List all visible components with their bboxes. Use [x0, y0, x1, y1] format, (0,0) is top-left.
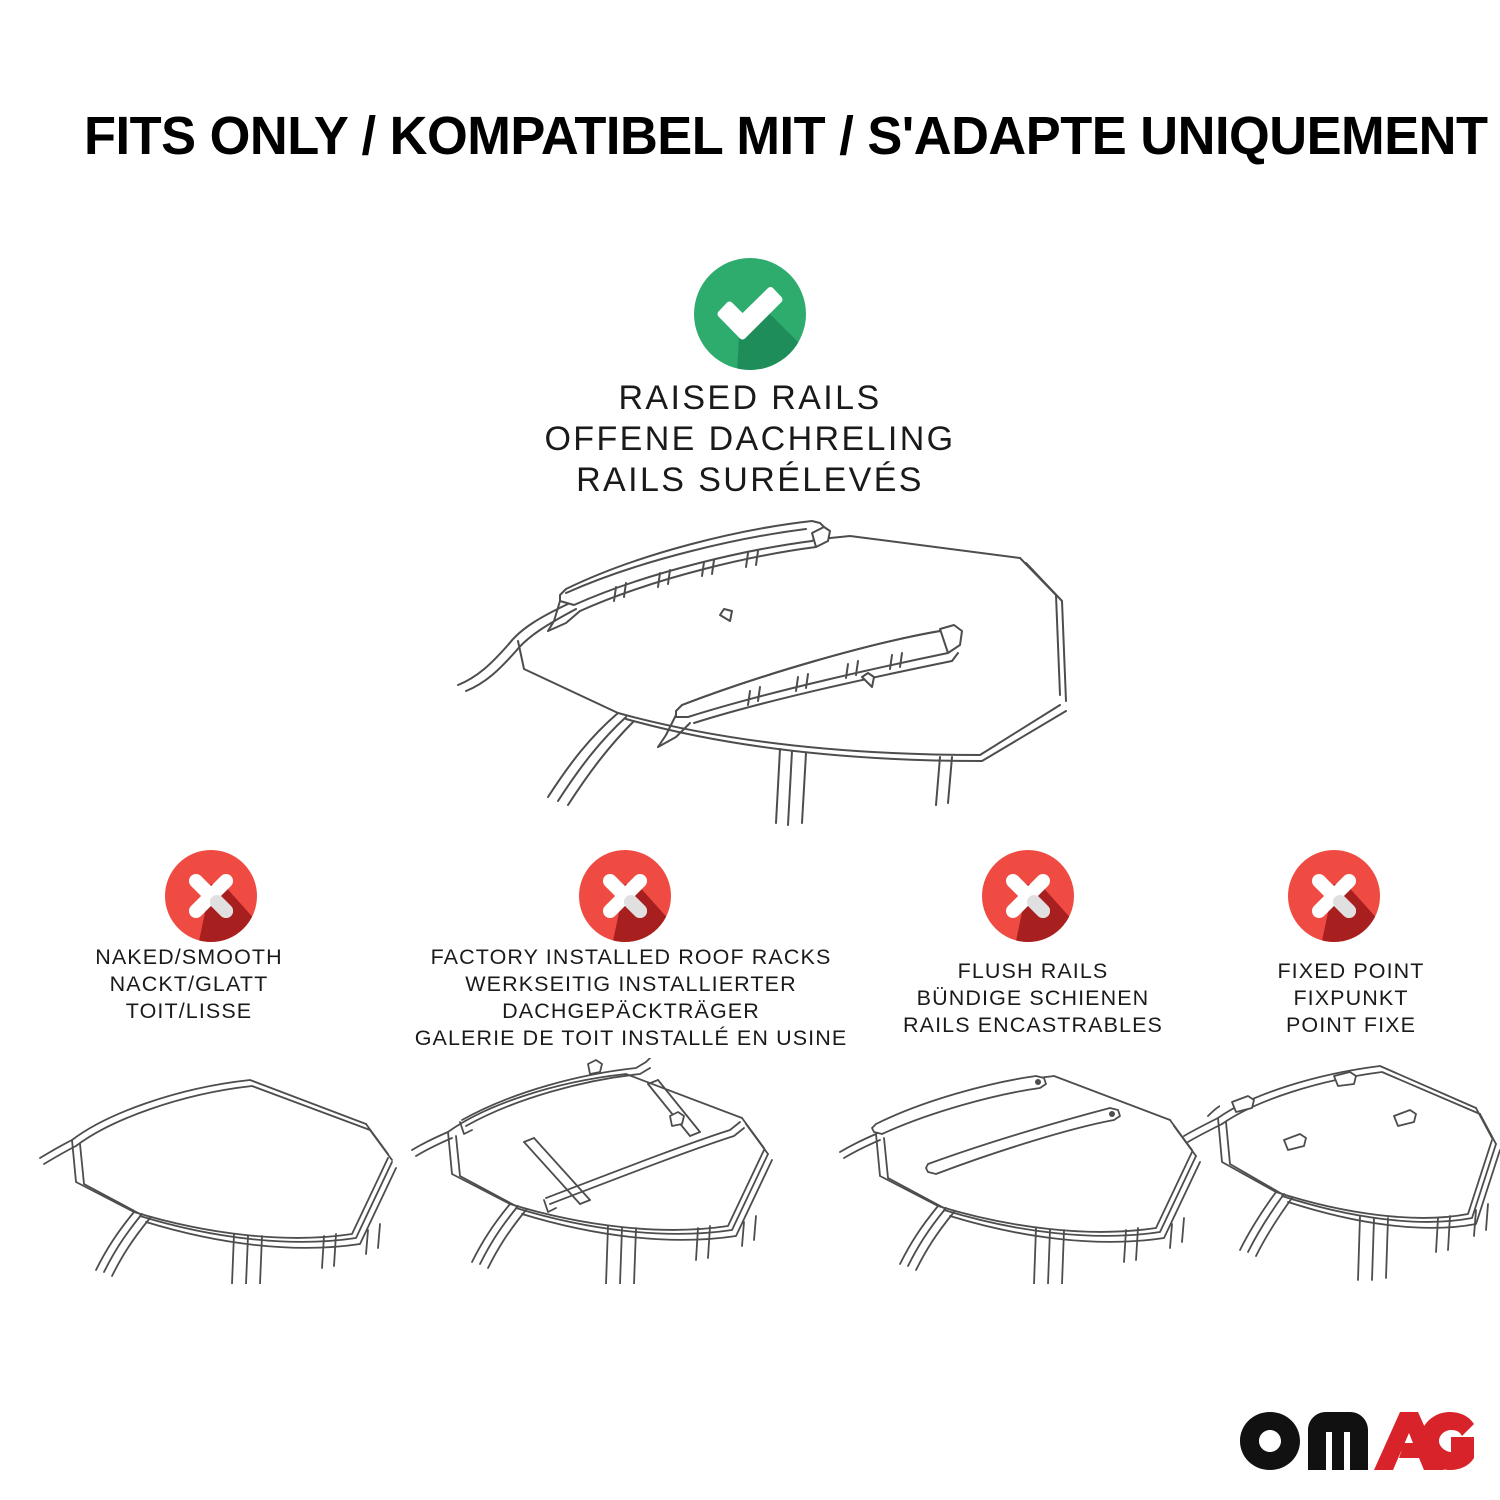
- label-naked-line-1: NAKED/SMOOTH: [24, 944, 354, 971]
- label-block-factory-racks: FACTORY INSTALLED ROOF RACKS WERKSEITIG …: [396, 944, 866, 1052]
- label-fixed-line-2: FIXPUNKT: [1206, 985, 1496, 1012]
- label-block-naked-smooth: NAKED/SMOOTH NACKT/GLATT TOIT/LISSE: [24, 944, 354, 1025]
- x-circle-icon-factory-racks: [579, 850, 683, 946]
- hero-label-line-3: RAILS SURÉLEVÉS: [430, 460, 1070, 501]
- label-block-flush-rails: FLUSH RAILS BÜNDIGE SCHIENEN RAILS ENCAS…: [868, 958, 1198, 1039]
- label-flush-line-3: RAILS ENCASTRABLES: [868, 1012, 1198, 1039]
- label-factory-line-2: WERKSEITIG INSTALLIERTER: [396, 971, 866, 998]
- car-roof-fixed-point-illustration: [1176, 1058, 1500, 1284]
- car-roof-naked-smooth-illustration: [36, 1058, 408, 1284]
- x-circle-icon-flush-rails: [982, 850, 1086, 946]
- hero-label-line-1: RAISED RAILS: [430, 378, 1070, 419]
- label-block-fixed-point: FIXED POINT FIXPUNKT POINT FIXE: [1206, 958, 1496, 1039]
- compatibility-infographic: FITS ONLY / KOMPATIBEL MIT / S'ADAPTE UN…: [0, 0, 1500, 1500]
- hero-label-block: RAISED RAILS OFFENE DACHRELING RAILS SUR…: [430, 378, 1070, 501]
- label-flush-line-2: BÜNDIGE SCHIENEN: [868, 985, 1198, 1012]
- label-naked-line-2: NACKT/GLATT: [24, 971, 354, 998]
- label-factory-line-3: DACHGEPÄCKTRÄGER: [396, 998, 866, 1025]
- page-title: FITS ONLY / KOMPATIBEL MIT / S'ADAPTE UN…: [84, 104, 1384, 168]
- hero-label-line-2: OFFENE DACHRELING: [430, 419, 1070, 460]
- label-fixed-line-1: FIXED POINT: [1206, 958, 1496, 985]
- label-factory-line-4: GALERIE DE TOIT INSTALLÉ EN USINE: [396, 1025, 866, 1052]
- label-flush-line-1: FLUSH RAILS: [868, 958, 1198, 985]
- label-naked-line-3: TOIT/LISSE: [24, 998, 354, 1025]
- label-fixed-line-3: POINT FIXE: [1206, 1012, 1496, 1039]
- car-roof-raised-rails-illustration: [420, 505, 1090, 835]
- car-roof-flush-rails-illustration: [828, 1058, 1220, 1284]
- logo-letter-m: [1308, 1412, 1368, 1470]
- omac-logo: [1238, 1410, 1474, 1472]
- x-circle-icon-fixed-point: [1288, 850, 1392, 946]
- label-factory-line-1: FACTORY INSTALLED ROOF RACKS: [396, 944, 866, 971]
- x-circle-icon-naked: [165, 850, 269, 946]
- car-roof-factory-racks-illustration: [400, 1058, 792, 1284]
- logo-letter-o: [1240, 1412, 1300, 1470]
- check-circle-icon: [676, 258, 824, 374]
